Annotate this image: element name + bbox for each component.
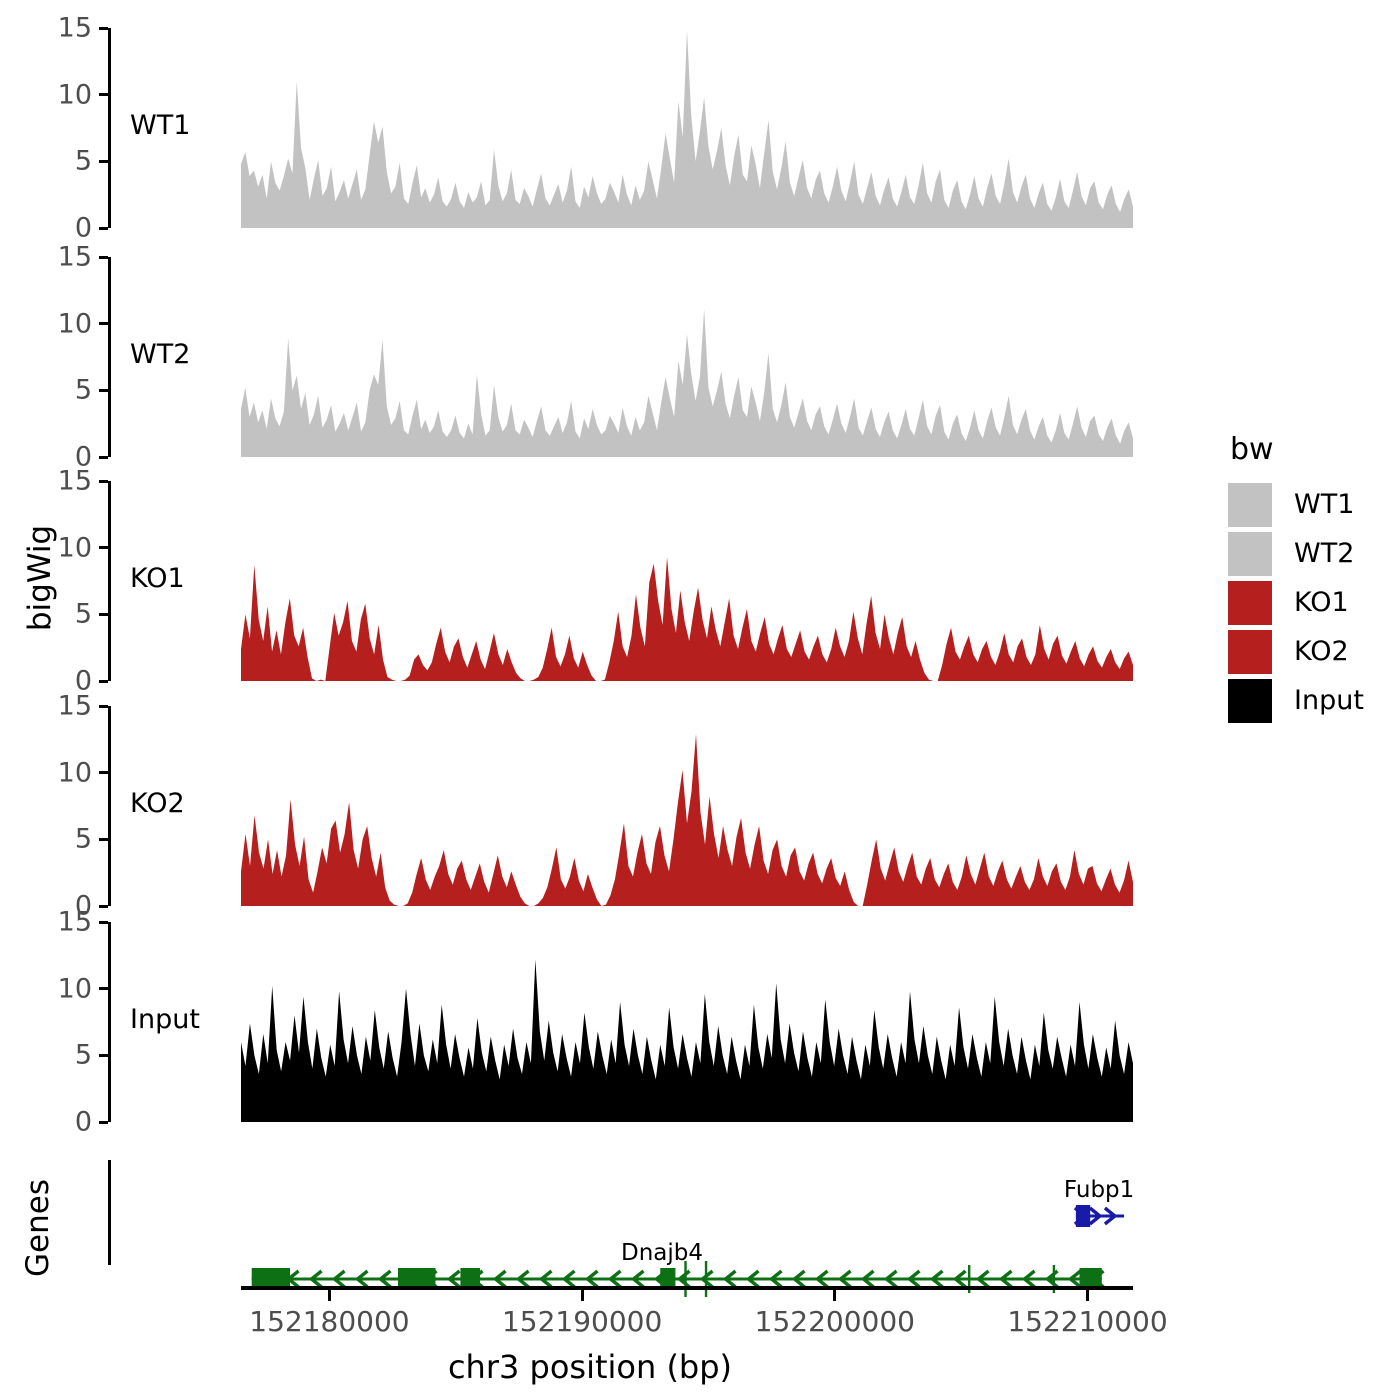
legend-item-wt2[interactable]: WT2: [1228, 530, 1364, 577]
y-tick: [99, 680, 108, 683]
y-tick: [99, 613, 108, 616]
y-tick: [99, 389, 108, 392]
y-axis-line-wt2: [108, 257, 111, 457]
y-tick-label: 5: [75, 1040, 92, 1071]
legend-item-input[interactable]: Input: [1228, 677, 1364, 724]
track-panel-ko2: 051015KO2: [108, 706, 1138, 906]
y-axis-line-input: [108, 922, 111, 1122]
y-tick: [99, 1121, 108, 1124]
y-axis-title-bigwig: bigWig: [22, 478, 58, 678]
y-axis-line-ko2: [108, 706, 111, 906]
y-tick: [99, 838, 108, 841]
y-axis-line-wt1: [108, 28, 111, 228]
legend-label-wt2: WT2: [1294, 538, 1354, 569]
y-tick-label: 15: [58, 907, 92, 938]
y-tick-label: 5: [75, 146, 92, 177]
y-tick-label: 10: [58, 532, 92, 563]
plot-area-wt2[interactable]: [241, 257, 1133, 457]
legend: bw WT1WT2KO1KO2Input: [1228, 432, 1364, 726]
y-tick: [99, 227, 108, 230]
y-tick-label: 10: [58, 757, 92, 788]
y-tick: [99, 771, 108, 774]
legend-title: bw: [1230, 432, 1364, 467]
y-tick: [99, 705, 108, 708]
legend-item-wt1[interactable]: WT1: [1228, 481, 1364, 528]
x-axis-line: [241, 1286, 1133, 1290]
legend-swatch-ko1: [1228, 581, 1272, 625]
plot-area-ko2[interactable]: [241, 706, 1133, 906]
legend-swatch-wt1: [1228, 483, 1272, 527]
y-tick: [99, 322, 108, 325]
legend-items: WT1WT2KO1KO2Input: [1228, 481, 1364, 724]
genes-panel: Dnajb4Fubp1: [108, 1160, 1138, 1305]
y-axis-title-genes: Genes: [20, 1128, 56, 1328]
track-panel-wt2: 051015WT2: [108, 257, 1138, 457]
svg-text:Dnajb4: Dnajb4: [621, 1240, 703, 1266]
plot-area-input[interactable]: [241, 922, 1133, 1122]
y-tick: [99, 987, 108, 990]
x-tick-label: 152180000: [249, 1305, 409, 1338]
x-tick: [328, 1290, 331, 1301]
legend-swatch-ko2: [1228, 630, 1272, 674]
y-tick-label: 10: [58, 973, 92, 1004]
x-axis-title: chr3 position (bp): [0, 1348, 1180, 1386]
y-tick-label: 10: [58, 79, 92, 110]
track-label-input: Input: [130, 1004, 200, 1035]
y-tick-label: 15: [58, 242, 92, 273]
legend-label-ko1: KO1: [1294, 587, 1349, 618]
track-label-wt2: WT2: [130, 339, 190, 370]
y-tick: [99, 256, 108, 259]
y-tick: [99, 905, 108, 908]
track-panel-wt1: 051015WT1: [108, 28, 1138, 228]
track-label-wt1: WT1: [130, 110, 190, 141]
y-tick: [99, 27, 108, 30]
track-panel-input: 051015Input: [108, 922, 1138, 1122]
track-panel-ko1: 051015KO1: [108, 481, 1138, 681]
y-tick-label: 0: [75, 1107, 92, 1138]
genes-plot-area[interactable]: Dnajb4Fubp1: [241, 1160, 1133, 1305]
x-tick-label: 152200000: [755, 1305, 915, 1338]
x-tick: [581, 1290, 584, 1301]
x-tick: [1086, 1290, 1089, 1301]
y-tick-label: 0: [75, 213, 92, 244]
x-tick-label: 152190000: [502, 1305, 662, 1338]
y-tick-label: 5: [75, 599, 92, 630]
y-tick: [99, 93, 108, 96]
plot-area-ko1[interactable]: [241, 481, 1133, 681]
y-tick-label: 15: [58, 13, 92, 44]
y-tick-label: 15: [58, 691, 92, 722]
y-tick: [99, 921, 108, 924]
y-tick: [99, 160, 108, 163]
legend-label-input: Input: [1294, 685, 1364, 716]
plot-area-wt1[interactable]: [241, 28, 1133, 228]
legend-label-ko2: KO2: [1294, 636, 1349, 667]
x-tick: [833, 1290, 836, 1301]
y-tick-label: 15: [58, 466, 92, 497]
legend-swatch-input: [1228, 679, 1272, 723]
y-tick-label: 5: [75, 375, 92, 406]
genes-axis-line: [108, 1160, 111, 1265]
track-label-ko1: KO1: [130, 563, 185, 594]
y-tick-label: 5: [75, 824, 92, 855]
y-axis-line-ko1: [108, 481, 111, 681]
svg-text:Fubp1: Fubp1: [1064, 1177, 1133, 1203]
legend-swatch-wt2: [1228, 532, 1272, 576]
y-tick-label: 10: [58, 308, 92, 339]
y-tick: [99, 546, 108, 549]
y-tick: [99, 456, 108, 459]
legend-label-wt1: WT1: [1294, 489, 1354, 520]
legend-item-ko1[interactable]: KO1: [1228, 579, 1364, 626]
legend-item-ko2[interactable]: KO2: [1228, 628, 1364, 675]
y-tick: [99, 1054, 108, 1057]
track-label-ko2: KO2: [130, 788, 185, 819]
y-tick: [99, 480, 108, 483]
x-tick-label: 152210000: [1007, 1305, 1167, 1338]
